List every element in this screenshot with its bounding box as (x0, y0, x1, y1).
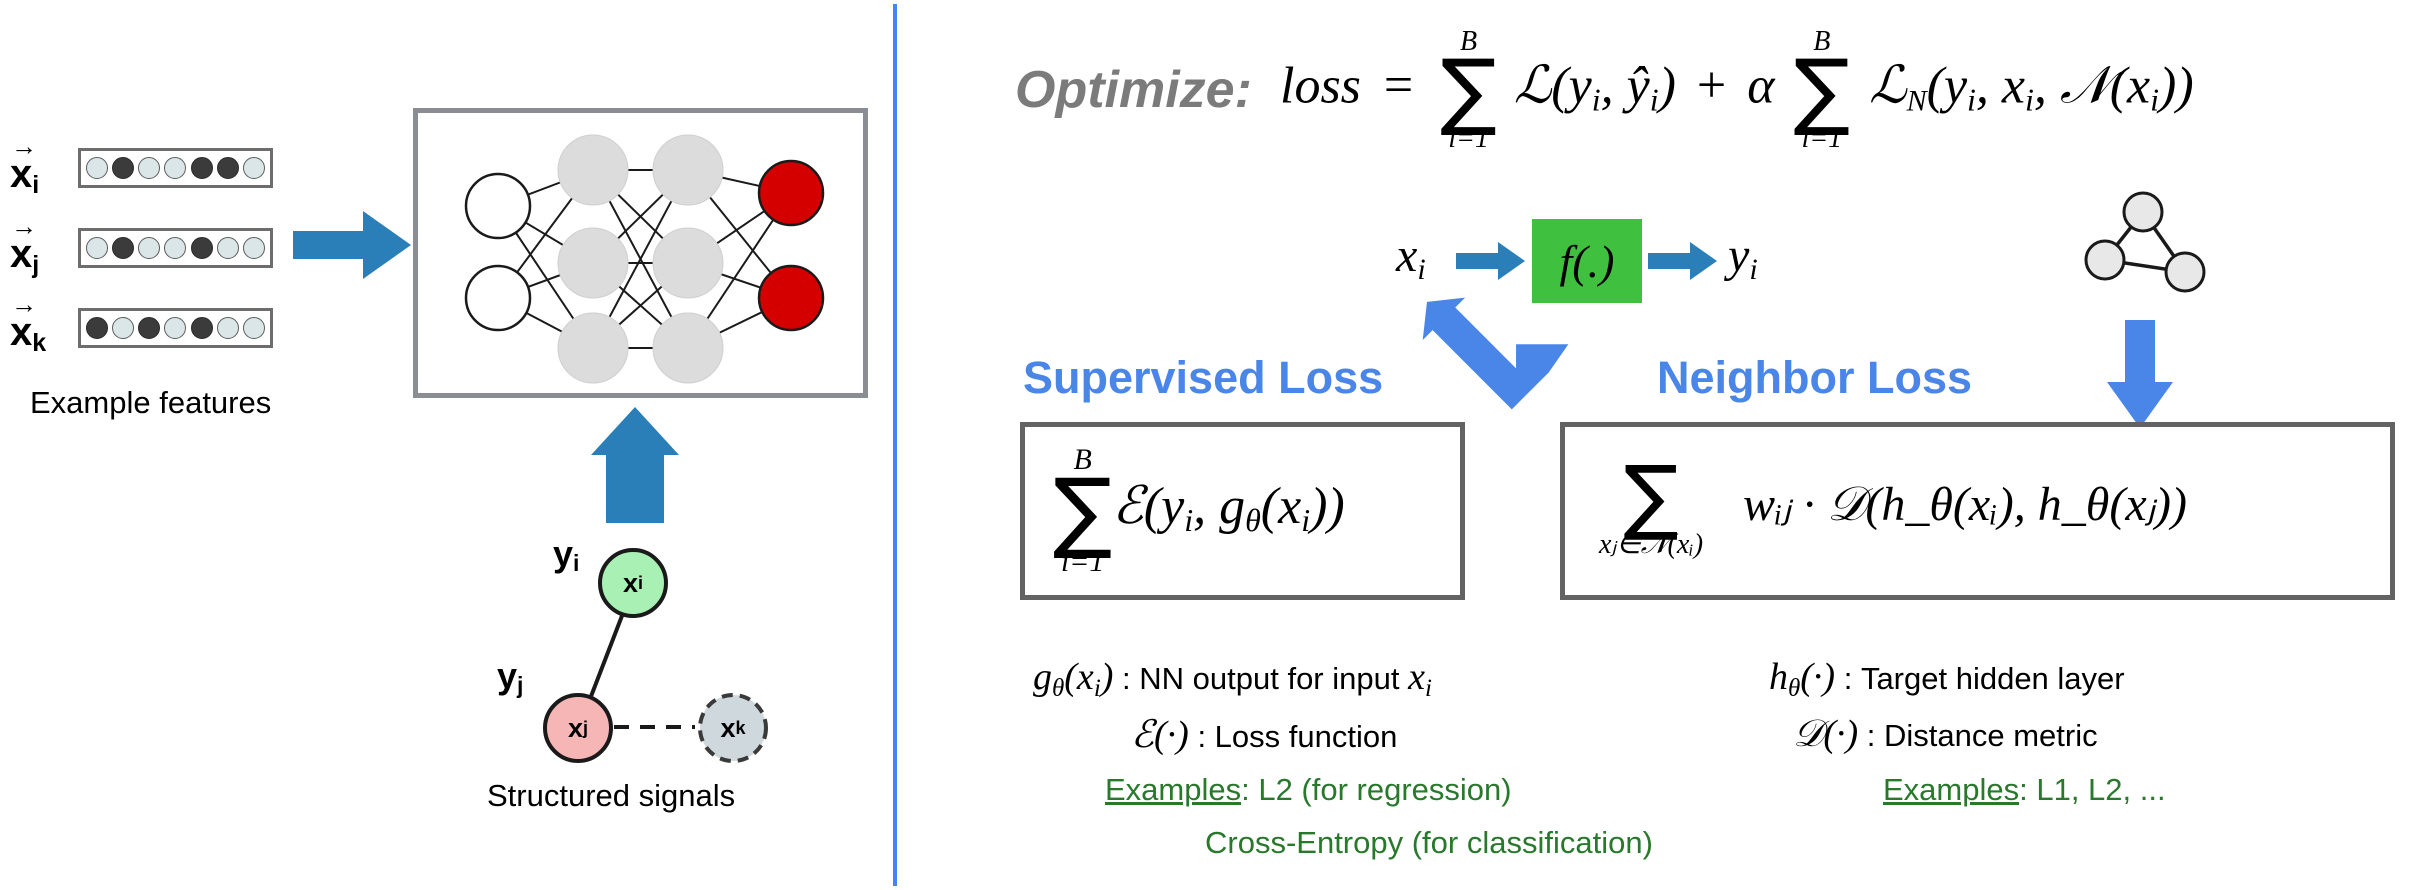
supervised-legend-line-1: ℰ(·) : Loss function (1131, 712, 1397, 757)
legend-sym-g: g (1033, 656, 1052, 698)
graph-y-label-j: yj (497, 655, 523, 699)
feature-vector-box-0 (78, 148, 273, 188)
supervised-loss-title: Supervised Loss (1023, 352, 1383, 404)
pipeline-arrow-out-icon (1648, 240, 1718, 282)
legend-trail-sub-0: i (1425, 675, 1432, 702)
feature-bit-2-6 (243, 317, 265, 339)
feature-bit-0-1 (112, 157, 134, 179)
neighbor-legend-colon-1: : (1858, 718, 1884, 753)
equation-term-2-b2: , x (1976, 57, 2025, 114)
legend-colon-1: : (1189, 719, 1215, 754)
supervised-examples-text-1: : L2 (for regression) (1241, 772, 1512, 807)
feature-vector-box-1 (78, 228, 273, 268)
feature-bit-2-2 (138, 317, 160, 339)
equation-equals: = (1374, 57, 1423, 114)
feature-bit-1-2 (138, 237, 160, 259)
equation-lhs: loss (1280, 57, 1361, 114)
feature-bit-0-4 (191, 157, 213, 179)
supervised-sum-glyph: ∑ (1053, 475, 1112, 547)
y-base-j: y (497, 655, 517, 696)
equation-term-1-end: ) (1659, 57, 1676, 114)
features-to-network-arrow-icon (293, 205, 413, 285)
neighbor-sum: ∑ xⱼ∈𝒩(xᵢ) (1599, 463, 1703, 558)
legend-sym-e: ℰ (1131, 714, 1154, 756)
feature-bit-2-3 (164, 317, 186, 339)
supervised-sum: B ∑ i=1 (1053, 445, 1112, 577)
main-equation: loss = B ∑ i=1 ℒ(yi, ŷi) + α B ∑ i=1 ℒN(… (1280, 28, 2194, 153)
feature-label-base-0: x (10, 152, 32, 196)
equation-term-1-head: ℒ(y (1514, 57, 1592, 114)
feature-bit-1-3 (164, 237, 186, 259)
feature-bit-0-3 (164, 157, 186, 179)
node-base-xk: x (720, 713, 735, 744)
legend-sym-g-end: ) (1101, 656, 1114, 698)
feature-bit-1-0 (86, 237, 108, 259)
legend-trail-sym-0: x (1408, 656, 1425, 698)
y-sub-j: j (517, 672, 523, 698)
supervised-sum-lower: i=1 (1061, 547, 1105, 577)
legend-text-1: Loss function (1215, 719, 1398, 754)
y-sub-i: i (573, 550, 579, 576)
triangle-node-top (2124, 193, 2162, 231)
legend-sym-e-tail: (·) (1154, 714, 1189, 756)
equation-term-1-sub-2: i (1650, 81, 1659, 117)
y-base-i: y (553, 533, 573, 574)
structured-signals-caption: Structured signals (487, 778, 735, 814)
triangle-node-right (2166, 253, 2204, 291)
neighbor-examples-text: : L1, L2, ... (2019, 772, 2165, 807)
supervised-loss-formula-box: B ∑ i=1 ℰ(yi, gθ(xi)) (1020, 422, 1465, 600)
feature-bit-1-5 (217, 237, 239, 259)
feature-vector-label-1: →xj (10, 220, 39, 278)
right-panel: Optimize: loss = B ∑ i=1 ℒ(yi, ŷi) + α B… (900, 0, 2412, 890)
triangle-graph (2075, 190, 2215, 300)
feature-label-sub-1: j (32, 251, 39, 279)
supervised-legend-line-0: gθ(xi) : NN output for input xi (1033, 655, 1432, 703)
equation-sum-2: B ∑ i=1 (1794, 28, 1851, 153)
sum-2-glyph: ∑ (1794, 56, 1851, 125)
supervised-body-4: )) (1310, 478, 1345, 535)
neighbor-legend-text-0: Target hidden layer (1861, 661, 2125, 696)
legend-sym-g-sub: θ (1052, 675, 1064, 702)
feature-label-sub-0: i (32, 171, 39, 199)
equation-term-2-s2: i (2025, 81, 2034, 117)
node-base-xj: x (568, 713, 583, 744)
supervised-body-2: , g (1193, 478, 1245, 535)
feature-bit-2-4 (191, 317, 213, 339)
neighbor-sum-lower: xⱼ∈𝒩(xᵢ) (1599, 531, 1703, 559)
supervised-sub-theta: θ (1245, 502, 1261, 538)
neighbor-legend-text-1: Distance metric (1884, 718, 2098, 753)
supervised-loss-formula: B ∑ i=1 ℰ(yi, gθ(xi)) (1025, 445, 1345, 577)
structured-signals-graph (490, 520, 830, 770)
equation-term-2-body: (y (1927, 57, 1967, 114)
legend-text-0: NN output for input (1139, 661, 1408, 696)
feature-bit-1-1 (112, 237, 134, 259)
supervised-sub-1: i (1184, 502, 1193, 538)
node-base-xi: x (623, 568, 638, 599)
equation-term-2-b3: , 𝒩(x (2034, 57, 2150, 114)
neighbor-examples-line: Examples: L1, L2, ... (1883, 772, 2166, 808)
neighbor-sum-glyph: ∑ (1623, 463, 1678, 530)
feature-bit-1-4 (191, 237, 213, 259)
triangle-node-left (2086, 241, 2124, 279)
feature-bit-2-5 (217, 317, 239, 339)
legend-sym-h: h (1769, 656, 1788, 698)
pipeline-input-base: x (1396, 229, 1417, 282)
nn-input-nodes (466, 174, 530, 330)
feature-bit-2-1 (112, 317, 134, 339)
feature-bit-0-0 (86, 157, 108, 179)
example-features-caption: Example features (30, 385, 271, 421)
feature-bit-0-5 (217, 157, 239, 179)
sum-1-glyph: ∑ (1440, 56, 1497, 125)
feature-label-sub-2: k (32, 329, 46, 357)
node-sub-xi: i (638, 573, 643, 594)
supervised-examples-line-2: Cross-Entropy (for classification) (1205, 825, 1653, 861)
neighbor-body: wᵢⱼ · 𝒟(h_θ(xᵢ), h_θ(xⱼ)) (1715, 478, 2187, 531)
supervised-body-3: (x (1261, 478, 1301, 535)
equation-term-2-head: ℒ (1869, 57, 1906, 114)
legend-sym-g-sub2: i (1094, 675, 1101, 702)
equation-term-2-b4: )) (2159, 57, 2194, 114)
neighbor-loss-title: Neighbor Loss (1657, 352, 1972, 404)
graph-node-label-xi: xi (600, 565, 666, 601)
pipeline-output-label: yi (1728, 228, 1758, 287)
feature-bit-0-6 (243, 157, 265, 179)
feature-vector-label-2: →xk (10, 298, 46, 356)
graph-y-label-i: yi (553, 533, 579, 577)
neighbor-loss-formula-box: ∑ xⱼ∈𝒩(xᵢ) wᵢⱼ · 𝒟(h_θ(xᵢ), h_θ(xⱼ)) (1560, 422, 2395, 600)
supervised-examples-label: Examples (1105, 772, 1241, 807)
graph-node-label-xj: xj (545, 710, 611, 746)
feature-bit-2-0 (86, 317, 108, 339)
feature-bit-0-2 (138, 157, 160, 179)
neighbor-legend-line-1: 𝒟(·) : Distance metric (1793, 712, 2098, 756)
feature-bit-1-6 (243, 237, 265, 259)
pipeline-output-base: y (1728, 229, 1749, 282)
sum-1-lower: i=1 (1448, 125, 1489, 153)
graph-node-label-xk: xk (700, 710, 766, 746)
feature-vector-box-2 (78, 308, 273, 348)
neural-network-diagram (413, 108, 868, 398)
nn-output-nodes (759, 161, 823, 330)
supervised-sub-2: i (1301, 502, 1310, 538)
neighbor-loss-formula: ∑ xⱼ∈𝒩(xᵢ) wᵢⱼ · 𝒟(h_θ(xᵢ), h_θ(xⱼ)) (1565, 463, 2187, 558)
node-sub-xj: j (583, 718, 588, 739)
equation-term-2-s3: i (2150, 81, 2159, 117)
legend-sym-h-tail: (·) (1800, 656, 1835, 698)
neighbor-legend-colon-0: : (1835, 661, 1861, 696)
left-panel: →xi →xj →xk Example features (0, 0, 895, 890)
supervised-examples-line-1: Examples: L2 (for regression) (1105, 772, 1512, 808)
neighbor-examples-label: Examples (1883, 772, 2019, 807)
feature-label-base-1: x (10, 232, 32, 276)
equation-term-2-s1: i (1967, 81, 1976, 117)
equation-alpha: α (1747, 57, 1774, 114)
sum-2-lower: i=1 (1802, 125, 1843, 153)
equation-sum-1: B ∑ i=1 (1440, 28, 1497, 153)
neighbor-legend-line-0: hθ(·) : Target hidden layer (1769, 655, 2125, 703)
equation-term-2-sub: N (1907, 84, 1927, 117)
legend-sym-d-tail: (·) (1823, 713, 1858, 755)
supervised-loss-arrow-icon (1410, 280, 1550, 410)
node-sub-xk: k (736, 718, 746, 739)
equation-term-1-mid: , ŷ (1601, 57, 1650, 114)
signals-to-network-arrow-icon (590, 405, 680, 525)
neighbor-loss-arrow-icon (2105, 320, 2175, 430)
legend-sym-g-tail: (x (1064, 656, 1094, 698)
pipeline-output-sub: i (1749, 253, 1757, 286)
feature-vector-label-0: →xi (10, 140, 39, 198)
pipeline-arrow-in-icon (1456, 240, 1526, 282)
panel-divider (893, 4, 897, 886)
optimize-label: Optimize: (1015, 60, 1252, 120)
equation-plus: + (1689, 57, 1734, 114)
feature-label-base-2: x (10, 310, 32, 354)
equation-term-1-sub-1: i (1592, 81, 1601, 117)
legend-sym-d: 𝒟 (1793, 713, 1823, 755)
supervised-body-1: ℰ(y (1112, 478, 1184, 535)
pipeline-input-label: xi (1396, 228, 1426, 287)
nn-edges (498, 170, 791, 348)
legend-colon-0: : (1113, 661, 1139, 696)
legend-sym-h-sub: θ (1788, 675, 1800, 702)
